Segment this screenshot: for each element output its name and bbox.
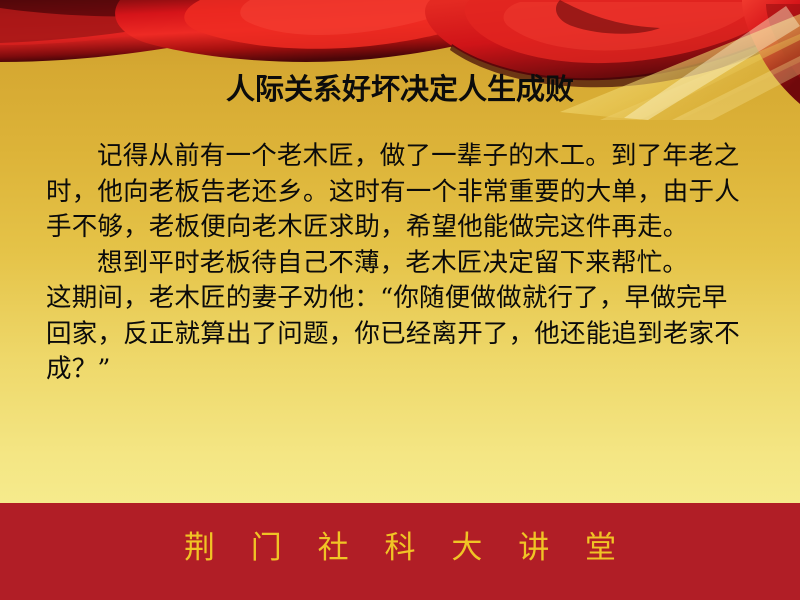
- slide-title: 人际关系好坏决定人生成败: [0, 72, 800, 106]
- slide-body-text: 记得从前有一个老木匠，做了一辈子的木工。到了年老之时，他向老板告老还乡。这时有一…: [46, 139, 752, 388]
- footer-band: 荆 门 社 科 大 讲 堂: [0, 503, 800, 600]
- paragraph-3: 这期间，老木匠的妻子劝他：“你随便做做就行了，早做完早回家，反正就算出了问题，你…: [46, 281, 752, 388]
- presentation-slide: 人际关系好坏决定人生成败 记得从前有一个老木匠，做了一辈子的木工。到了年老之时，…: [0, 0, 800, 600]
- footer-title: 荆 门 社 科 大 讲 堂: [0, 529, 800, 567]
- paragraph-1: 记得从前有一个老木匠，做了一辈子的木工。到了年老之时，他向老板告老还乡。这时有一…: [46, 139, 752, 246]
- paragraph-2: 想到平时老板待自己不薄，老木匠决定留下来帮忙。: [46, 246, 752, 282]
